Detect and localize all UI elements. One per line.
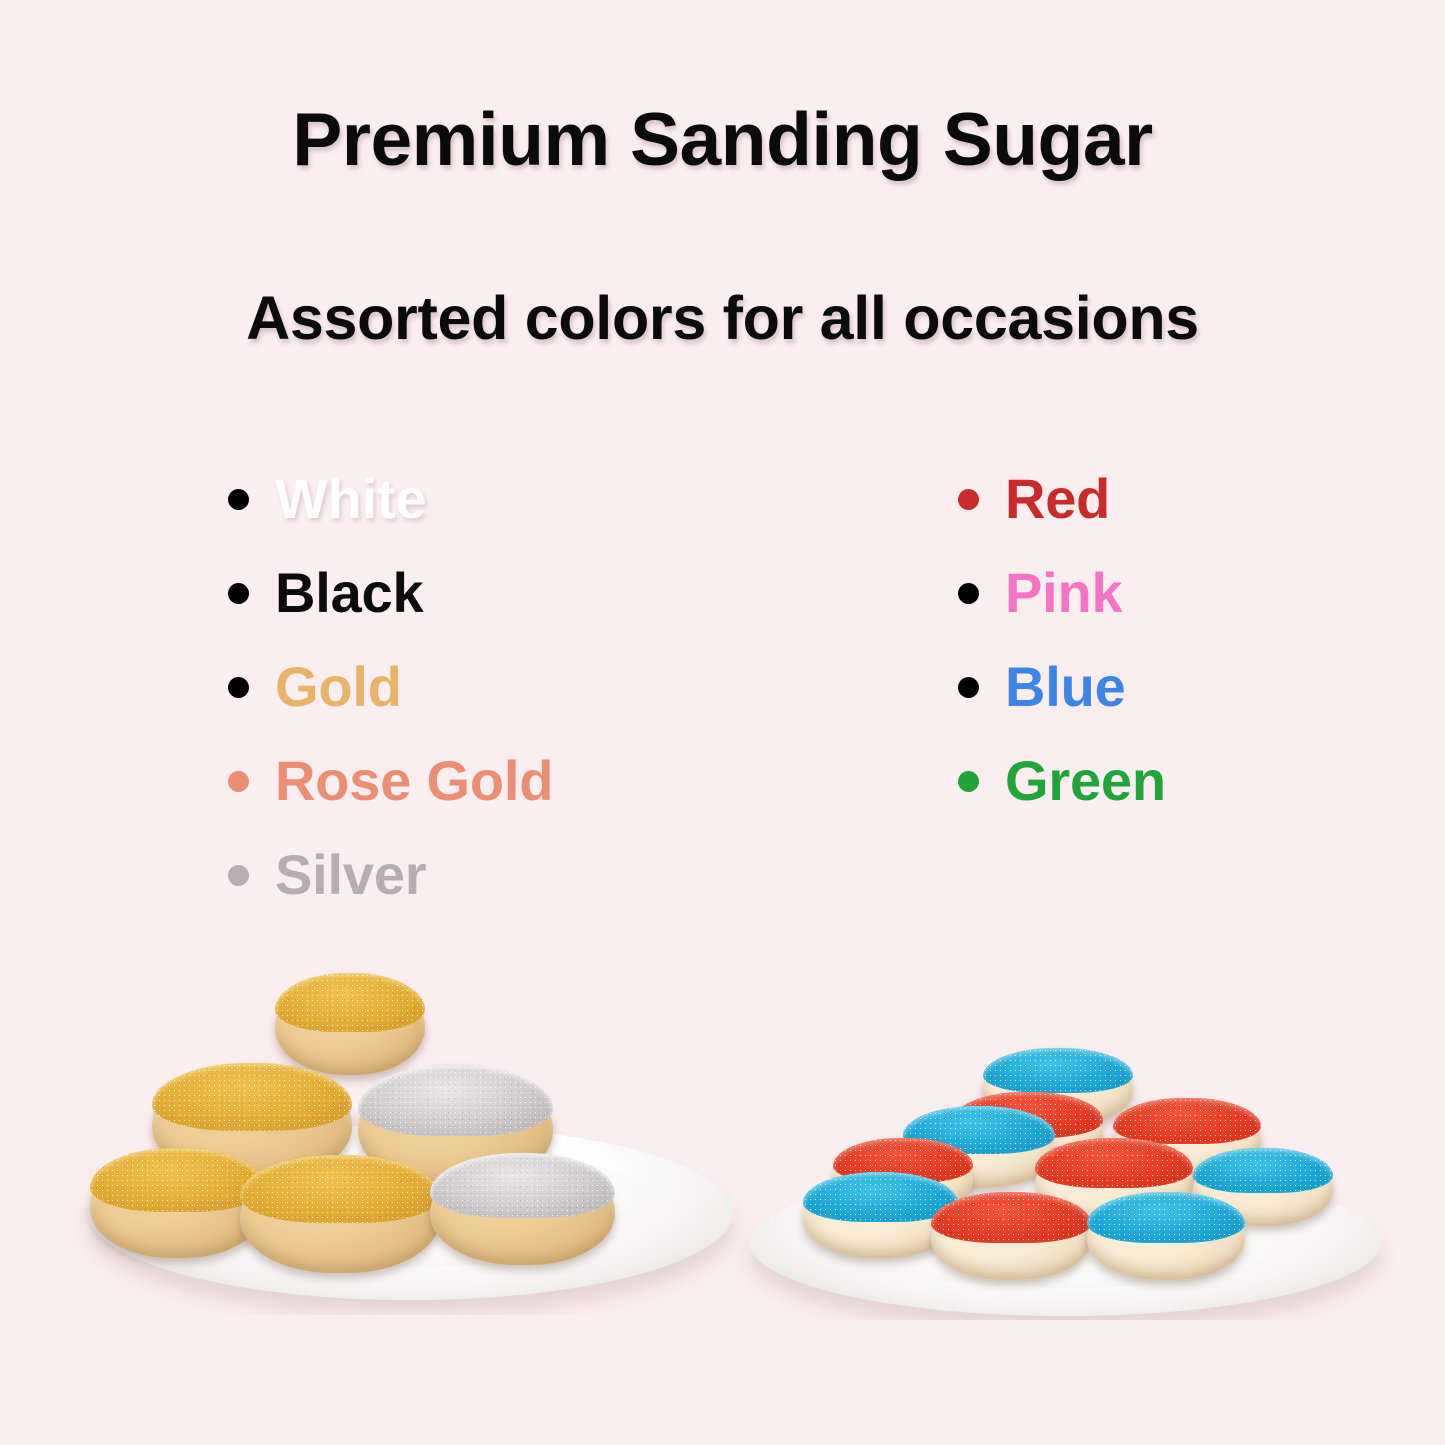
color-option-green: Green bbox=[958, 734, 1166, 828]
color-option-red: Red bbox=[958, 452, 1166, 546]
color-list-right: RedPinkBlueGreen bbox=[958, 452, 1166, 828]
product-photo-red-blue bbox=[735, 1020, 1395, 1320]
color-option-pink: Pink bbox=[958, 546, 1166, 640]
sanding-sugar-topping bbox=[1113, 1098, 1261, 1144]
color-option-white: White bbox=[228, 452, 553, 546]
color-option-label: Green bbox=[1005, 753, 1166, 809]
sanding-sugar-topping bbox=[152, 1063, 352, 1131]
cookie bbox=[430, 1153, 615, 1265]
color-option-label: Silver bbox=[275, 847, 426, 903]
sanding-sugar-topping bbox=[983, 1048, 1133, 1093]
bullet-icon bbox=[958, 489, 979, 510]
color-option-rose-gold: Rose Gold bbox=[228, 734, 553, 828]
cookie bbox=[275, 973, 425, 1075]
bullet-icon bbox=[228, 677, 249, 698]
bullet-icon bbox=[958, 677, 979, 698]
color-option-label: Blue bbox=[1005, 659, 1126, 715]
color-options: WhiteBlackGoldRose GoldSilver RedPinkBlu… bbox=[0, 452, 1445, 912]
bullet-icon bbox=[958, 583, 979, 604]
sanding-sugar-topping bbox=[1035, 1138, 1193, 1188]
bullet-icon bbox=[228, 865, 249, 886]
page-subtitle: Assorted colors for all occasions bbox=[0, 283, 1445, 353]
page-title: Premium Sanding Sugar bbox=[0, 96, 1445, 182]
cookie bbox=[931, 1192, 1091, 1280]
color-option-label: White bbox=[275, 471, 426, 527]
color-list-left: WhiteBlackGoldRose GoldSilver bbox=[228, 452, 553, 922]
sanding-sugar-topping bbox=[275, 973, 425, 1032]
sanding-sugar-topping bbox=[358, 1065, 553, 1136]
color-option-blue: Blue bbox=[958, 640, 1166, 734]
sanding-sugar-topping bbox=[1193, 1148, 1333, 1193]
bullet-icon bbox=[228, 489, 249, 510]
color-option-label: Rose Gold bbox=[275, 753, 553, 809]
color-option-black: Black bbox=[228, 546, 553, 640]
color-option-label: Black bbox=[275, 565, 423, 621]
plate-red-blue bbox=[735, 1020, 1395, 1320]
color-option-label: Red bbox=[1005, 471, 1110, 527]
bullet-icon bbox=[228, 583, 249, 604]
color-option-silver: Silver bbox=[228, 828, 553, 922]
cookie bbox=[1087, 1192, 1245, 1280]
color-option-gold: Gold bbox=[228, 640, 553, 734]
cookie bbox=[90, 1148, 265, 1258]
color-option-label: Gold bbox=[275, 659, 402, 715]
product-infographic: Premium Sanding Sugar Assorted colors fo… bbox=[0, 0, 1445, 1445]
product-photo-gold-silver bbox=[60, 955, 760, 1315]
color-option-label: Pink bbox=[1005, 565, 1122, 621]
plate-gold-silver bbox=[60, 955, 760, 1315]
cookie bbox=[240, 1155, 440, 1273]
bullet-icon bbox=[958, 771, 979, 792]
bullet-icon bbox=[228, 771, 249, 792]
